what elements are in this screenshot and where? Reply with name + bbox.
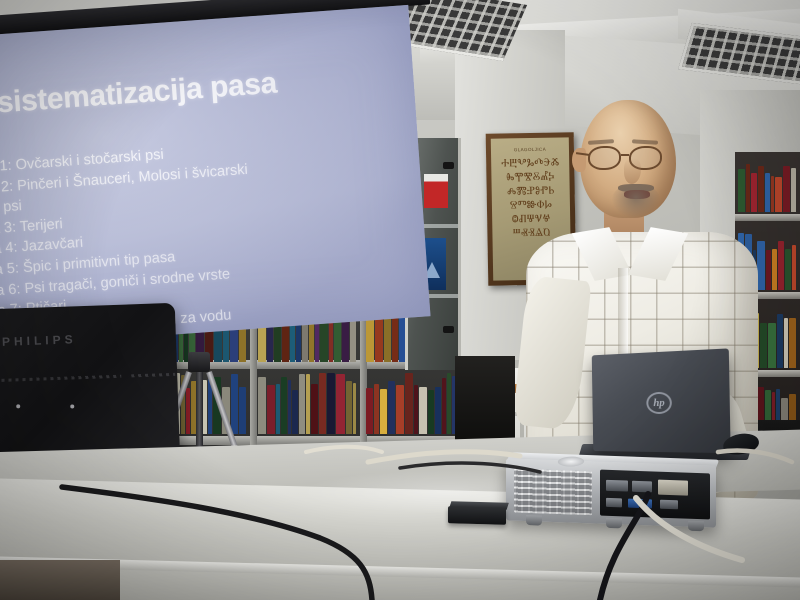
book-spine	[366, 388, 373, 434]
book-row	[258, 372, 356, 434]
book-spine	[231, 374, 239, 434]
photo-scene: GLAGOLJICA ⰀⰁⰂⰃⰄⰅⰆ ⰈⰉⰊⰋⰌⰍ ⰎⰏⰐⰑⰒⰓ ⰔⰕⰖⰗⰘ Ⱉ…	[0, 0, 800, 600]
book-spine	[405, 373, 413, 434]
book-spine	[419, 387, 427, 434]
projector-port[interactable]	[632, 481, 652, 493]
book-spine	[396, 385, 404, 434]
book-spine	[186, 388, 189, 434]
book-spine	[239, 387, 246, 434]
book-spine	[775, 177, 782, 212]
laptop[interactable]: hp	[592, 348, 731, 453]
projector-vent-grille	[514, 469, 592, 516]
book-spine	[784, 318, 788, 368]
book-spine	[288, 380, 291, 434]
projector-port-panel	[600, 470, 710, 520]
book-spine	[319, 373, 326, 434]
projector-port[interactable]	[606, 480, 628, 492]
projector-port[interactable]	[660, 500, 678, 510]
goatee	[612, 184, 660, 218]
book-spine	[777, 314, 783, 368]
bridge	[621, 154, 629, 156]
book-spine	[299, 374, 305, 434]
tripod-hub	[188, 352, 210, 372]
hp-logo-icon: hp	[646, 392, 672, 414]
book-spine	[267, 385, 275, 434]
book-spine	[789, 318, 796, 368]
projector-port[interactable]	[658, 480, 688, 496]
projector-port[interactable]	[606, 498, 622, 508]
book-spine	[336, 374, 344, 434]
projector-port[interactable]	[628, 499, 652, 509]
book-spine	[276, 384, 281, 434]
slide-title: FCI-sistematizacija pasa	[0, 67, 278, 125]
cabinet-handle[interactable]	[443, 326, 454, 333]
book-spine	[414, 385, 418, 434]
monitor-vent	[131, 373, 175, 378]
projector-foot	[606, 518, 622, 529]
book-spine	[311, 384, 318, 434]
book-spine	[258, 377, 266, 434]
projector-lens-dial[interactable]	[556, 456, 586, 467]
book-spine	[442, 378, 446, 434]
book-spine	[778, 241, 783, 290]
book-spine	[380, 389, 387, 434]
book-spine	[428, 390, 434, 434]
book-spine	[771, 176, 774, 212]
book-spine	[783, 166, 790, 213]
monitor-brand-label: PHILIPS	[2, 332, 77, 349]
book-spine	[785, 249, 791, 290]
book-spine	[281, 377, 287, 434]
projected-slide: FCI-sistematizacija pasa Skupina 1: Ovča…	[0, 5, 431, 348]
book-spine	[327, 373, 335, 434]
book-spine	[792, 245, 796, 291]
book-spine	[292, 390, 298, 434]
book-spine	[791, 168, 796, 212]
book-spine	[346, 381, 352, 434]
book-row	[366, 372, 458, 434]
monitor-vent	[1, 375, 121, 382]
video-projector[interactable]	[506, 458, 716, 527]
floor	[0, 560, 120, 600]
lens	[588, 146, 621, 170]
book-spine	[388, 381, 395, 434]
book-spine	[353, 383, 356, 434]
external-drive[interactable]	[448, 506, 506, 525]
cabinet-handle[interactable]	[443, 162, 454, 169]
book-spine	[772, 249, 777, 290]
projector-foot	[526, 515, 542, 526]
book-spine	[435, 387, 441, 434]
book-spine	[306, 374, 310, 434]
projector-foot	[688, 521, 704, 532]
book-spine	[447, 373, 451, 434]
book-spine	[374, 384, 379, 434]
